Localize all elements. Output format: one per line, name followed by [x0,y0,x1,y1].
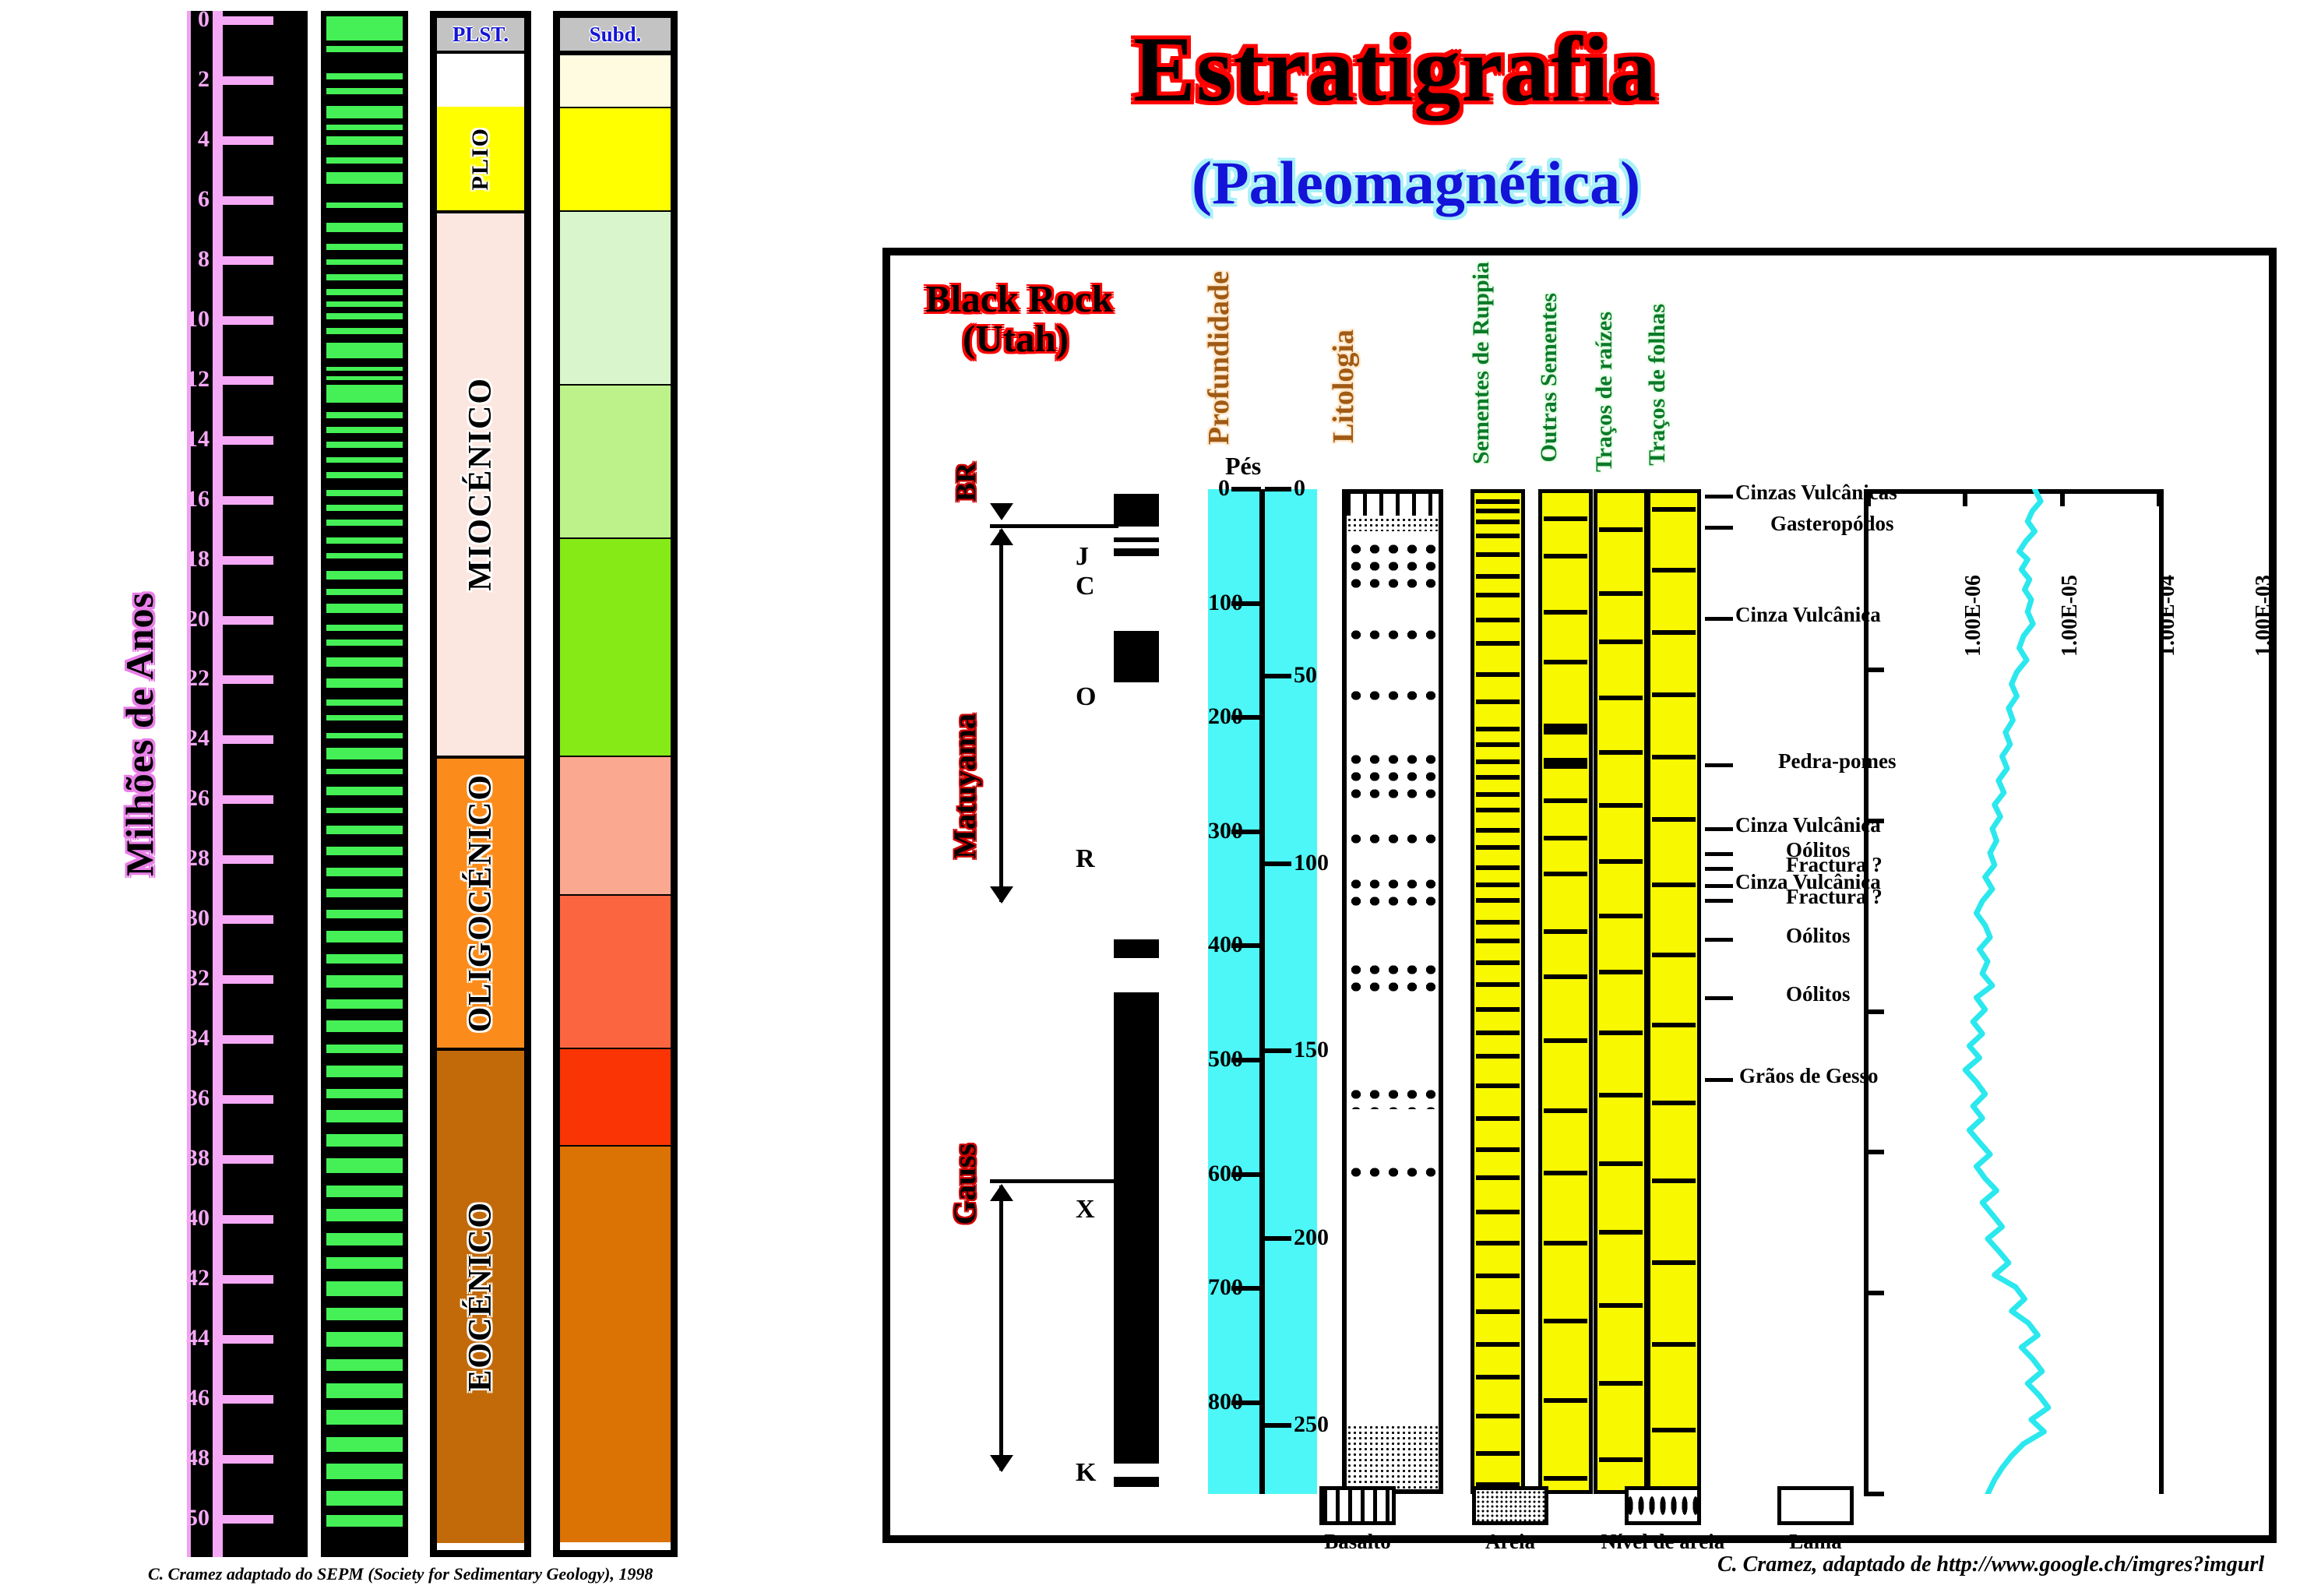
subdivision-band [560,1048,671,1145]
polarity-stripe [326,847,403,856]
occurrence-tick [1652,817,1696,822]
polarity-stripe [326,826,403,835]
occurrence-tick [1544,836,1587,840]
timescale-tick [213,496,273,505]
polarity-stripe [326,172,403,184]
chron-label-gauss: Gauss [946,1143,983,1225]
polarity-stripe [326,1233,403,1245]
occurrence-tick [1476,534,1520,538]
depth-label-ft: 800 [1208,1390,1230,1414]
annotation-leader-line [1705,1078,1733,1082]
chron-boundary-line [990,1179,1118,1183]
legend-item: Basalto [1284,1486,1432,1554]
polarity-stripe [326,1308,403,1319]
depth-unit-label: Pés [1225,452,1261,481]
timescale-tick-label: 14 [175,428,210,451]
y-axis-tick [1864,1009,1884,1014]
occurrence-tick [1652,507,1696,512]
subdivision-band [560,210,671,384]
timescale-tick-label: 6 [175,188,210,211]
polarity-stripe [326,1515,403,1527]
timescale-tick-label: 10 [175,308,210,331]
subchron-letter-r: R [1076,844,1095,874]
legend-label: Nível de areia [1589,1530,1737,1554]
timescale-tick-label: 50 [175,1506,210,1530]
polarity-stripe [326,259,403,266]
occurrence-tick [1476,759,1520,764]
annotation-label: Cinza Vulcânica [1735,813,1881,837]
polarity-stripe [326,301,403,308]
polarity-stripe [326,313,403,319]
occurrence-tick [1599,696,1643,700]
timescale-tick [213,1455,273,1464]
subchron-letter-c: C [1076,572,1095,601]
occurrence-tick [1652,755,1696,759]
polarity-stripe [326,1410,403,1425]
arrowhead-icon [990,1184,1013,1201]
occurrence-tick [1599,803,1643,808]
polarity-bar [1114,631,1159,682]
polarity-stripe [326,490,403,496]
timescale-tick [213,436,273,445]
fossil-column-folhas [1647,489,1701,1494]
polarity-stripe [326,1158,403,1173]
chron-range-arrow [999,530,1003,902]
arrowhead-icon [990,528,1013,545]
timescale-tick-label: 44 [175,1326,210,1350]
subchron-letter-o: O [1076,682,1096,712]
fossil-column-ruppia [1470,489,1525,1494]
occurrence-tick [1476,641,1520,646]
occurrence-tick [1476,1210,1520,1214]
occurrence-tick [1476,552,1520,557]
occurrence-tick [1544,872,1587,876]
polarity-stripe [326,1464,403,1478]
timescale-tick-label: 34 [175,1027,210,1050]
polarity-stripe [326,157,403,164]
magnetic-polarity-column [321,11,408,1557]
timescale-tick [213,16,273,25]
legend-swatch-blank [1777,1486,1854,1525]
polarity-stripe [326,73,403,79]
polarity-bar [1114,939,1159,958]
legend-item: Areia [1436,1486,1584,1554]
depth-tick-m [1265,487,1291,491]
site-title-line2: (Utah) [925,319,1113,358]
left-panel-credit: C. Cramez adaptado do SEPM (Society for … [148,1564,653,1584]
occurrence-tick [1599,1093,1643,1097]
y-axis-tick [1864,1150,1884,1154]
polarity-stripe [326,699,403,706]
annotation-leader-line [1705,827,1733,831]
timescale-tick-label: 8 [175,248,210,271]
subchron-letter-k: K [1076,1458,1096,1488]
occurrence-tick [1544,1171,1587,1175]
timescale-tick [213,975,273,984]
occurrence-tick [1599,1303,1643,1308]
lithology-column-header: Litologia [1326,329,1361,443]
occurrence-tick [1476,982,1520,987]
depth-tick-m [1265,674,1291,678]
occurrence-tick [1476,618,1520,622]
timescale-tick [213,1275,273,1284]
occurrence-tick [1476,1007,1520,1012]
lithology-sand-level [1347,1164,1439,1181]
timescale-tick-label: 16 [175,488,210,511]
occurrence-tick [1476,828,1520,833]
timescale-tick-label: 18 [175,548,210,571]
occurrence-tick [1476,520,1520,524]
y-axis-tick [1864,1291,1884,1295]
polarity-stripe [326,385,403,403]
polarity-stripe [326,1110,403,1122]
subdivision-band [560,894,671,1048]
polarity-stripe [326,954,403,964]
annotation-label: Oólitos [1786,924,1851,948]
depth-label-m: 200 [1294,1226,1329,1249]
occurrence-tick [1476,699,1520,704]
occurrence-tick [1544,974,1587,979]
fossil-column-header-racines: Traços de raízes [1591,312,1618,472]
occurrence-tick [1599,914,1643,918]
timescale-tick-label: 28 [175,847,210,870]
epoch-band-label: MIOCÉNICO [462,377,499,591]
polarity-stripe [326,427,403,433]
y-axis-tick [1864,668,1884,672]
timescale-tick [213,136,273,145]
polarity-stripe [326,1134,403,1146]
depth-axis-spine [1259,489,1265,1494]
occurrence-tick [1599,859,1643,864]
timescale-tick-label: 24 [175,727,210,750]
polarity-stripe [326,1066,403,1077]
x-axis-tick-label: 1.00E-04 [2155,575,2180,657]
occurrence-tick [1544,929,1587,934]
polarity-stripe [326,931,403,942]
depth-label-ft: 500 [1208,1048,1230,1071]
occurrence-tick [1476,865,1520,870]
occurrence-tick [1652,568,1696,573]
polarity-stripe [326,910,403,919]
polarity-stripe [326,343,403,358]
x-axis-tick-label: 1.00E-05 [2058,575,2083,657]
subdivision-band [560,54,671,107]
polarity-stripe [326,367,403,371]
depth-label-ft: 100 [1208,591,1230,615]
timescale-tick-label: 0 [175,8,210,31]
legend-label: Lama [1742,1530,1890,1554]
timescale-tick [213,1215,273,1224]
polarity-bar [1114,494,1159,527]
occurrence-tick [1476,939,1520,943]
occurrence-tick [1476,742,1520,747]
fossil-column-outras-sementes [1538,489,1593,1494]
depth-label-ft: 400 [1208,933,1230,957]
occurrence-tick [1652,1342,1696,1347]
subdivision-column-header: Subd. [560,18,671,54]
occurrence-tick [1476,1175,1520,1180]
occurrence-tick [1476,1054,1520,1059]
annotation-leader-line [1705,526,1733,530]
occurrence-tick [1476,845,1520,850]
right-panel-credit: C. Cramez, adaptado de http://www.google… [1717,1552,2264,1577]
occurrence-tick [1652,630,1696,635]
timescale-tick-label: 20 [175,608,210,631]
occurrence-tick [1476,1375,1520,1379]
occurrence-tick [1476,920,1520,925]
polarity-stripe [326,999,403,1009]
occurrence-tick [1652,1023,1696,1027]
polarity-stripe [326,412,403,418]
polarity-stripe [326,1359,403,1371]
timescale-tick-label: 22 [175,667,210,690]
subdivision-band [560,384,671,537]
fossil-column-header-outras-sementes: Outras Sementes [1536,293,1562,462]
legend-item: Nível de areia [1589,1486,1737,1554]
arrowhead-icon-br [990,503,1013,520]
timescale-tick [213,735,273,744]
lithology-sand-level [1347,876,1439,907]
depth-label-m: 250 [1294,1413,1329,1436]
polarity-stripe [326,715,403,721]
polarity-stripe [326,274,403,280]
timescale-tick [213,795,273,804]
polarity-stripe [326,88,403,94]
occurrence-tick [1476,1274,1520,1278]
subchron-letter-j: J [1076,542,1089,572]
occurrence-tick [1476,1309,1520,1314]
lithology-sand-level [1347,687,1439,703]
occurrence-tick [1544,1241,1587,1245]
polarity-stripe [326,106,403,118]
lithology-sand-level [1347,830,1439,844]
fossil-column-racines [1594,489,1648,1494]
occurrence-tick [1544,516,1587,521]
timescale-tick [213,1155,273,1164]
fossil-column-header-ruppia: Sementes de Ruppia [1468,262,1495,464]
occurrence-tick [1476,960,1520,965]
timescale-tick-label: 32 [175,967,210,990]
annotation-leader-line [1705,763,1733,767]
occurrence-tick [1544,724,1587,735]
x-axis-tick [1866,489,1871,506]
polarity-stripe [326,520,403,526]
annotation-leader-line [1705,495,1733,499]
geologic-timescale-panel: Milhões de Anos 024681012141618202224262… [0,0,701,1596]
timescale-tick-label: 2 [175,68,210,91]
epoch-band-plio: PLIO [437,107,524,210]
occurrence-tick [1476,509,1520,513]
depth-label-m: 0 [1294,477,1305,500]
depth-label-ft: 0 [1208,477,1230,500]
legend-item: Lama [1742,1486,1890,1554]
occurrence-tick [1599,1381,1643,1386]
x-axis-tick-label: 1.00E-03 [2252,575,2277,657]
x-axis-tick [2157,489,2161,506]
epoch-band-label: PLIO [467,127,494,190]
depth-column-header: Profundidade [1202,271,1236,445]
lithology-sand-level [1347,751,1439,805]
polarity-bar [1114,537,1159,542]
lithology-sand-top [1347,517,1439,531]
arrowhead-icon [990,886,1013,904]
occurrence-tick [1599,527,1643,532]
occurrence-tick [1544,1398,1587,1403]
occurrence-tick [1599,750,1643,755]
polarity-stripe [326,223,403,232]
annotation-label: Cinza Vulcânica [1735,603,1881,627]
occurrence-tick [1652,883,1696,887]
polarity-stripe [326,328,403,334]
depth-tick-ft [1231,487,1261,491]
occurrence-tick [1544,660,1587,664]
occurrence-tick [1599,591,1643,596]
x-axis-tick [1963,489,1967,506]
occurrence-tick [1599,639,1643,644]
polarity-stripe [326,1089,403,1098]
polarity-stripe [326,537,403,544]
polarity-stripe [326,125,403,131]
polarity-stripe [326,625,403,631]
occurrence-tick [1652,1428,1696,1432]
polarity-stripe [326,1045,403,1054]
depth-tick-m [1265,861,1291,866]
polarity-stripe [326,571,403,580]
polarity-stripe [326,1437,403,1452]
occurrence-tick [1652,692,1696,697]
polarity-stripe [326,1020,403,1032]
timescale-tick [213,855,273,864]
fossil-column-header-folhas: Traços de folhas [1644,304,1671,466]
timescale-tick [213,915,273,924]
depth-label-ft: 700 [1208,1276,1230,1299]
occurrence-tick [1476,672,1520,677]
timescale-ruler: 0246810121416182022242628303234363840424… [187,11,308,1557]
polarity-stripe [326,604,403,613]
depth-label-m: 50 [1294,664,1317,687]
polarity-stripe [326,1257,403,1269]
legend-label: Basalto [1284,1530,1432,1554]
polarity-stripe [326,46,403,52]
epoch-band-oligocénico: OLIGOCÉNICO [437,756,524,1048]
lithology-sand-bottom [1347,1425,1439,1489]
depth-label-ft: 300 [1208,819,1230,843]
occurrence-tick [1476,1241,1520,1245]
occurrence-tick [1544,758,1587,769]
polarity-stripe [326,748,403,759]
annotation-leader-line [1705,852,1733,856]
epoch-column: PLST. PLIOMIOCÉNICOOLIGOCÉNICOEOCÉNICO [430,11,531,1557]
depth-scale-column: 0100200300400500600700800050100150200250 [1208,489,1317,1494]
depth-label-m: 150 [1294,1038,1329,1062]
occurrence-tick [1476,1083,1520,1088]
subdivision-band [560,756,671,894]
annotation-leader-line [1705,899,1733,903]
legend-swatch-dots [1625,1486,1701,1525]
occurrence-tick [1476,808,1520,812]
polarity-stripe [326,457,403,463]
timescale-tick-label: 26 [175,787,210,810]
occurrence-tick [1544,798,1587,803]
polarity-stripe [326,442,403,448]
chron-label-br: BR [949,463,982,502]
polarity-stripe [326,1491,403,1506]
occurrence-tick [1476,775,1520,780]
occurrence-tick [1599,1161,1643,1166]
timescale-tick-label: 38 [175,1147,210,1170]
subdivision-band [560,107,671,210]
timescale-tick [213,1515,273,1524]
occurrence-tick [1476,1451,1520,1456]
chron-range-arrow [999,1186,1003,1471]
polarity-stripe [326,589,403,595]
occurrence-tick [1652,1179,1696,1183]
polarity-stripe [326,16,403,41]
timescale-tick [213,1335,273,1344]
black-rock-figure: Black Rock (Utah) Profundidade Litologia… [882,248,2277,1543]
depth-label-ft: 200 [1208,705,1230,728]
occurrence-tick [1544,1108,1587,1113]
occurrence-tick [1476,1414,1520,1418]
occurrence-tick [1476,1342,1520,1347]
polarity-stripe [326,889,403,898]
occurrence-tick [1544,1319,1587,1323]
annotation-leader-line [1705,996,1733,1000]
occurrence-tick [1652,953,1696,957]
occurrence-tick [1476,1147,1520,1152]
timescale-tick-label: 36 [175,1087,210,1110]
polarity-stripe [326,1281,403,1296]
occurrence-tick [1544,1476,1587,1481]
timescale-tick [213,76,273,85]
x-axis-tick-label: 1.00E-06 [1961,575,1986,657]
polarity-stripe [326,657,403,667]
lithology-sand-level [1347,1086,1439,1109]
depth-tick-m [1265,1048,1291,1053]
polarity-stripe [326,1332,403,1347]
arrowhead-icon [990,1455,1013,1472]
polarity-stripe [326,733,403,739]
polarity-stripe [326,553,403,559]
polarity-stripe [326,289,403,295]
polarity-bar [1114,1477,1159,1487]
susceptibility-curve [1864,489,2164,1494]
timescale-tick-label: 42 [175,1267,210,1290]
lithology-basalt [1347,494,1439,516]
timescale-tick [213,1035,273,1044]
timescale-tick-label: 12 [175,368,210,391]
subdivision-band [560,537,671,756]
susceptibility-plot [1864,489,2164,1494]
annotation-label: Oólitos [1786,982,1851,1006]
lithology-sand-level [1347,961,1439,992]
timescale-tick [213,256,273,265]
polarity-bar [1114,548,1159,556]
lithology-sand-level [1347,541,1439,594]
lithology-sand-level [1347,626,1439,647]
epoch-band-label: OLIGOCÉNICO [462,773,499,1032]
polarity-log-column [1114,494,1159,1487]
timescale-tick-label: 4 [175,128,210,151]
occurrence-tick [1652,1101,1696,1105]
depth-label-m: 100 [1294,851,1329,875]
timescale-tick [213,1395,273,1404]
epoch-column-header: PLST. [437,18,524,54]
polarity-stripe [326,868,403,877]
timescale-tick-label: 40 [175,1207,210,1230]
lithology-column [1342,489,1443,1494]
timescale-axis-label: Milhões de Anos [117,592,162,876]
